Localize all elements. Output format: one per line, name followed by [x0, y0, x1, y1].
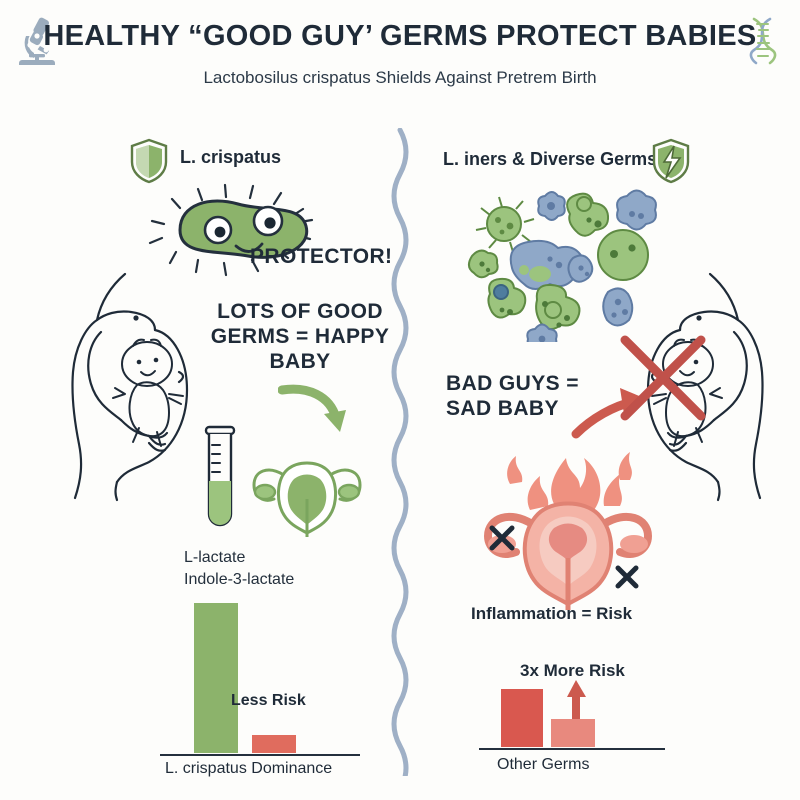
right-chart-title: 3x More Risk	[520, 661, 625, 681]
curved-arrow-green-icon	[278, 382, 356, 443]
arrow-up-red-icon	[565, 680, 587, 725]
left-chart-note: Less Risk	[231, 692, 306, 710]
page-subtitle: Lactobosilus crispatus Shields Against P…	[0, 68, 800, 88]
right-chart-axis	[479, 748, 665, 751]
test-tube-green-icon	[200, 425, 242, 540]
red-x-icon	[615, 330, 711, 431]
protector-text: PROTECTOR!	[250, 245, 392, 270]
left-callout: LOTS OF GOOD GERMS = HAPPY BABY	[210, 300, 390, 374]
right-chart-axis-label: Other Germs	[497, 756, 589, 774]
left-bar-chart	[160, 598, 360, 753]
inflammation-label: Inflammation = Risk	[471, 604, 632, 624]
left-chart-bar-red	[252, 735, 296, 753]
left-species-label: L. crispatus	[180, 147, 281, 168]
metabolites-label: L-lactate Indole-3-lactate	[184, 547, 294, 590]
right-species-label: L. iners & Diverse Germs	[443, 149, 657, 170]
arrow-down-green-icon	[203, 688, 223, 735]
infographic-canvas: HEALTHY “GOOD GUY’ GERMS PROTECT BABIES …	[0, 0, 800, 800]
right-callout: BAD GUYS = SAD BABY	[446, 372, 579, 422]
flame-icon	[507, 452, 632, 510]
left-chart-axis-label: L. crispatus Dominance	[165, 760, 332, 778]
uterus-inflamed-icon	[468, 440, 668, 615]
right-chart-bar-dark	[501, 689, 543, 747]
uterus-healthy-icon	[248, 445, 366, 542]
page-title: HEALTHY “GOOD GUY’ GERMS PROTECT BABIES	[0, 20, 800, 53]
wavy-divider	[378, 128, 422, 781]
left-chart-axis	[160, 754, 360, 757]
